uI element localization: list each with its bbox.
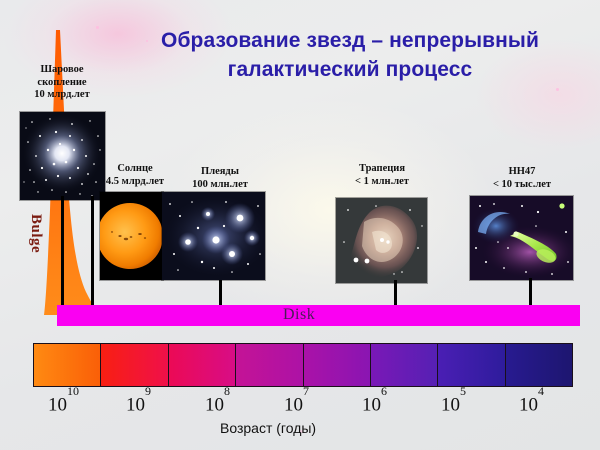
label-line: 4.5 млрд.лет — [95, 176, 175, 189]
spectrum-segment — [506, 344, 572, 386]
label-sun: Солнце 4.5 млрд.лет — [95, 163, 175, 188]
axis-tick-10e6: 106 — [362, 392, 387, 416]
axis-tick-exponent: 9 — [145, 384, 151, 398]
disk-label: Disk — [283, 306, 315, 324]
axis-title: Возраст (годы) — [220, 420, 316, 436]
slide-canvas: Образование звезд – непрерывный галактич… — [0, 0, 600, 450]
label-line: 10 млрд.лет — [14, 89, 110, 102]
thumbnail-globular-cluster — [20, 112, 105, 200]
axis-tick-exponent: 8 — [224, 384, 230, 398]
axis-tick-exponent: 4 — [538, 384, 544, 398]
label-line: < 10 тыс.лет — [472, 179, 572, 192]
label-line: Шаровое — [14, 64, 110, 77]
thumbnail-sun — [100, 192, 163, 280]
star-speck — [556, 88, 559, 91]
axis-tick-10e8: 108 — [205, 392, 230, 416]
axis-tick-10e9: 109 — [126, 392, 151, 416]
thumbnail-hh47 — [470, 196, 573, 280]
spectrum-segment — [34, 344, 101, 386]
label-line: Плеяды — [175, 166, 265, 179]
spectrum-segment — [101, 344, 168, 386]
star-speck — [96, 26, 99, 29]
age-spectrum-bar — [33, 343, 573, 387]
label-pleiades: Плеяды 100 млн.лет — [175, 166, 265, 191]
page-title-line1: Образование звезд – непрерывный — [120, 26, 580, 55]
label-line: HH47 — [472, 166, 572, 179]
bulge-label: Bulge — [27, 214, 44, 253]
axis-tick-exponent: 10 — [67, 384, 79, 398]
label-line: Трапеция — [336, 163, 428, 176]
axis-tick-10e4: 104 — [519, 392, 544, 416]
axis-tick-exponent: 7 — [303, 384, 309, 398]
label-line: Солнце — [95, 163, 175, 176]
label-line: скопление — [14, 77, 110, 90]
label-line: < 1 млн.лет — [336, 176, 428, 189]
thumbnail-pleiades — [162, 192, 265, 280]
spectrum-segment — [438, 344, 505, 386]
axis-tick-exponent: 5 — [460, 384, 466, 398]
axis-tick-10e5: 105 — [441, 392, 466, 416]
spectrum-segment — [236, 344, 303, 386]
spectrum-segment — [371, 344, 438, 386]
label-globular-cluster: Шаровое скопление 10 млрд.лет — [14, 64, 110, 102]
axis-tick-10e10: 1010 — [48, 392, 79, 416]
axis-tick-10e7: 107 — [284, 392, 309, 416]
spectrum-segment — [169, 344, 236, 386]
page-title-line2: галактический процесс — [120, 55, 580, 84]
label-trapezium: Трапеция < 1 млн.лет — [336, 163, 428, 188]
disk-region-bar — [57, 305, 580, 326]
page-title: Образование звезд – непрерывный галактич… — [120, 26, 580, 84]
thumbnail-trapezium — [336, 198, 427, 283]
label-hh47: HH47 < 10 тыс.лет — [472, 166, 572, 191]
axis-tick-exponent: 6 — [381, 384, 387, 398]
spectrum-segment — [304, 344, 371, 386]
label-line: 100 млн.лет — [175, 179, 265, 192]
